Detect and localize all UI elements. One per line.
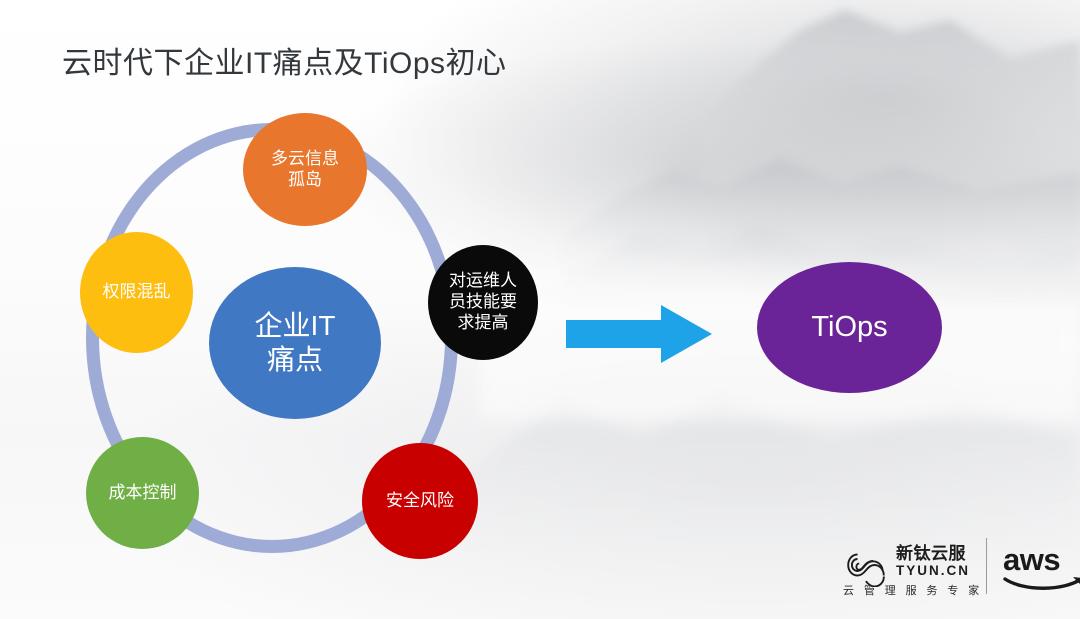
- slide-canvas: 云时代下企业IT痛点及TiOps初心 企业IT 痛点 多云信息 孤岛 权限混乱 …: [0, 0, 1080, 619]
- aws-logo: aws: [1003, 542, 1080, 590]
- tyun-name-en: TYUN.CN: [896, 563, 970, 579]
- diagram-node-ops-skill-demand[interactable]: 对运维人 员技能要 求提高: [428, 245, 538, 360]
- logo-divider: [986, 538, 987, 594]
- diagram-node-center[interactable]: 企业IT 痛点: [209, 267, 381, 419]
- tyun-wordmark: 新钛云服 TYUN.CN: [896, 545, 970, 579]
- diagram-node-cost-control[interactable]: 成本控制: [86, 437, 199, 549]
- right-arrow-icon: [566, 303, 712, 365]
- tyun-tagline: 云 管 理 服 务 专 家: [843, 582, 983, 598]
- svg-text:aws: aws: [1003, 542, 1060, 577]
- tyun-name-cn: 新钛云服: [896, 545, 970, 563]
- diagram-node-outcome-tiops[interactable]: TiOps: [757, 262, 942, 393]
- diagram-node-permission-chaos[interactable]: 权限混乱: [80, 232, 193, 353]
- diagram-node-multi-cloud-silo[interactable]: 多云信息 孤岛: [243, 113, 367, 226]
- infinity-cloud-icon: [843, 545, 889, 587]
- diagram-node-security-risk[interactable]: 安全风险: [362, 443, 478, 559]
- tyun-logo: 新钛云服 TYUN.CN: [843, 545, 970, 587]
- page-title: 云时代下企业IT痛点及TiOps初心: [62, 38, 507, 82]
